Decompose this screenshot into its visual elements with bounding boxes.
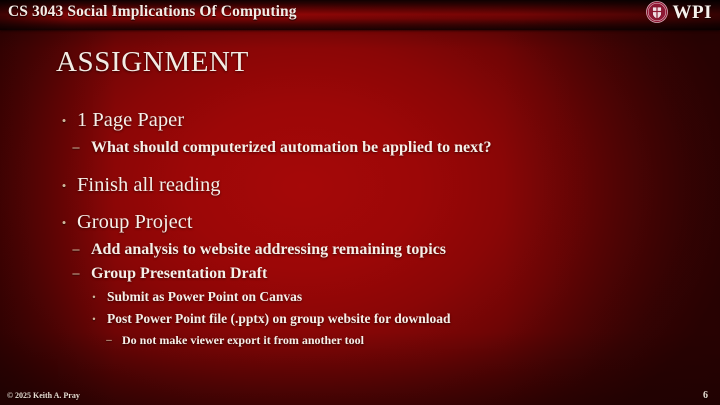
wpi-seal-icon (646, 1, 668, 23)
bullet-item-level2: – What should computerized automation be… (0, 136, 720, 160)
bullet-item-level2: – Group Presentation Draft (0, 262, 720, 286)
slide-header-bar: CS 3043 Social Implications Of Computing… (0, 0, 720, 30)
bullet-marker-dash: – (70, 136, 82, 160)
bullet-item-level3: • Post Power Point file (.pptx) on group… (0, 308, 720, 330)
bullet-item-level1: • 1 Page Paper (0, 105, 720, 136)
bullet-text: Do not make viewer export it from anothe… (122, 333, 364, 347)
page-title: ASSIGNMENT (56, 46, 249, 79)
bullet-text: What should computerized automation be a… (91, 139, 491, 156)
bullet-text: Post Power Point file (.pptx) on group w… (107, 311, 451, 326)
bullet-marker-dot: • (58, 170, 70, 201)
bullet-spacer (0, 160, 720, 170)
bullet-marker-dash: – (70, 238, 82, 262)
wpi-logo: WPI (646, 1, 713, 23)
bullet-item-level4: – Do not make viewer export it from anot… (0, 330, 720, 351)
bullet-text: Submit as Power Point on Canvas (107, 289, 302, 304)
bullet-text: Add analysis to website addressing remai… (91, 241, 446, 258)
bullet-item-level3: • Submit as Power Point on Canvas (0, 286, 720, 308)
bullet-item-level2: – Add analysis to website addressing rem… (0, 238, 720, 262)
bullet-text: Group Project (77, 211, 193, 233)
bullet-item-level1: • Finish all reading (0, 170, 720, 201)
page-number: 6 (703, 390, 708, 401)
bullet-marker-dash: – (70, 262, 82, 286)
bullet-list: • 1 Page Paper – What should computerize… (0, 105, 720, 351)
bullet-text: Group Presentation Draft (91, 265, 267, 282)
presentation-slide: CS 3043 Social Implications Of Computing… (0, 0, 720, 405)
bullet-marker-dash-small: – (104, 330, 114, 351)
bullet-marker-dot-small: • (89, 286, 99, 308)
bullet-item-level1: • Group Project (0, 207, 720, 238)
bullet-marker-dot-small: • (89, 308, 99, 330)
wpi-wordmark: WPI (673, 3, 713, 22)
bullet-marker-dot: • (58, 105, 70, 136)
bullet-text: 1 Page Paper (77, 109, 184, 131)
bullet-text: Finish all reading (77, 174, 220, 196)
course-title: CS 3043 Social Implications Of Computing (8, 3, 297, 21)
bullet-marker-dot: • (58, 207, 70, 238)
copyright-notice: © 2025 Keith A. Pray (7, 391, 80, 400)
